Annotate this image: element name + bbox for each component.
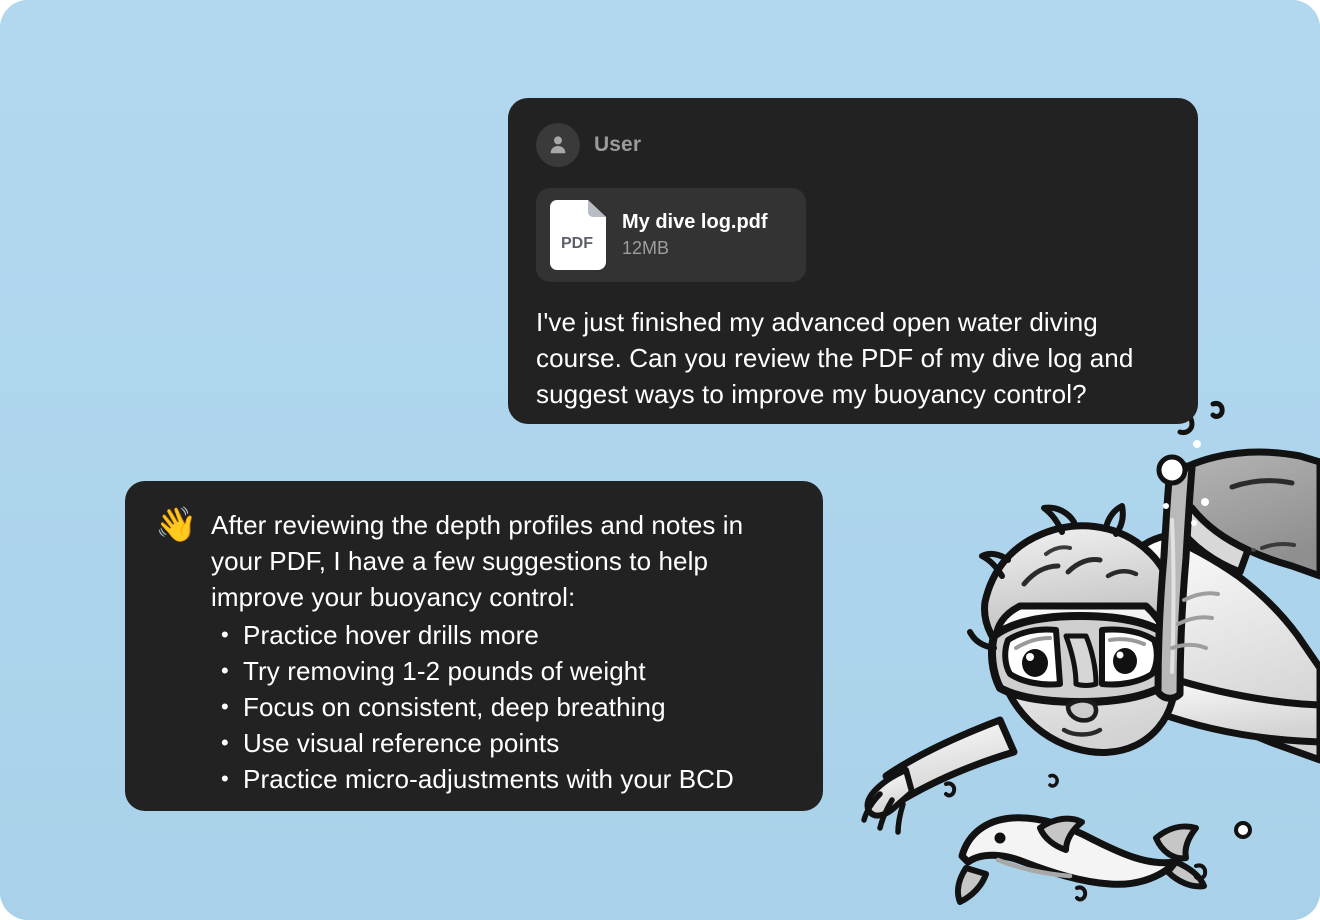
svg-text:PDF: PDF — [561, 235, 593, 252]
list-item: Use visual reference points — [211, 725, 795, 761]
file-attachment-card[interactable]: PDF My dive log.pdf 12MB — [536, 188, 806, 282]
file-meta: My dive log.pdf 12MB — [622, 211, 768, 259]
assistant-message-bubble: 👋 After reviewing the depth profiles and… — [125, 481, 823, 811]
sender-name: User — [594, 133, 641, 157]
file-size: 12MB — [622, 238, 768, 259]
list-item: Practice micro-adjustments with your BCD — [211, 761, 795, 797]
assistant-intro-text: After reviewing the depth profiles and n… — [211, 507, 795, 615]
left-hand — [864, 770, 912, 832]
chat-canvas: User PDF My dive log.pdf 12MB I've just … — [0, 0, 1320, 920]
user-header: User — [536, 122, 1170, 168]
list-item: Focus on consistent, deep breathing — [211, 689, 795, 725]
fish-illustration — [958, 818, 1204, 902]
waving-hand-emoji: 👋 — [155, 507, 211, 543]
suggestion-list: Practice hover drills more Try removing … — [155, 617, 795, 797]
list-item: Practice hover drills more — [211, 617, 795, 653]
user-message-bubble: User PDF My dive log.pdf 12MB I've just … — [508, 98, 1198, 424]
file-name: My dive log.pdf — [622, 211, 768, 234]
assistant-intro: 👋 After reviewing the depth profiles and… — [155, 507, 795, 615]
snorkeler-figure — [864, 452, 1320, 832]
pdf-file-icon: PDF — [550, 200, 606, 270]
air-bubbles — [946, 391, 1250, 899]
person-avatar-icon — [536, 123, 580, 167]
list-item: Try removing 1-2 pounds of weight — [211, 653, 795, 689]
user-message-text: I've just finished my advanced open wate… — [536, 304, 1170, 412]
